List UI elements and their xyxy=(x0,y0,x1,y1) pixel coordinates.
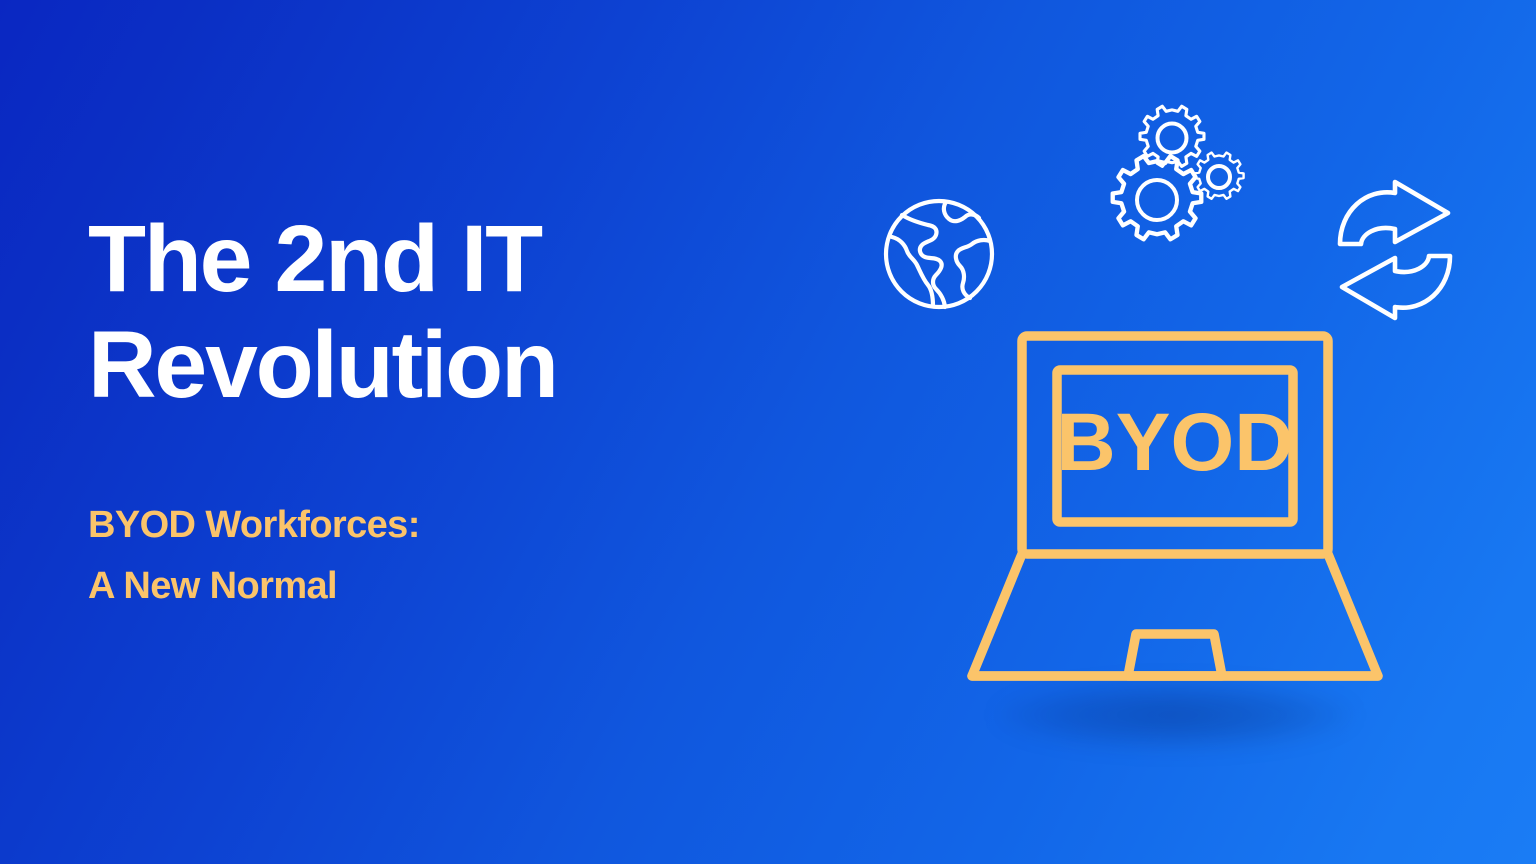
gears-icon xyxy=(1102,100,1252,250)
subhead-line-1: BYOD Workforces: xyxy=(88,495,708,557)
sync-arrows-icon xyxy=(1336,180,1454,320)
page-subtitle: BYOD Workforces: A New Normal xyxy=(88,495,708,618)
headline-line-1: The 2nd IT xyxy=(88,206,708,312)
headline-line-2: Revolution xyxy=(88,312,708,418)
globe-icon xyxy=(880,195,998,313)
byod-banner: The 2nd IT Revolution BYOD Workforces: A… xyxy=(0,0,1536,864)
text-block: The 2nd IT Revolution BYOD Workforces: A… xyxy=(88,206,708,618)
laptop-byod-icon: BYOD xyxy=(960,330,1390,710)
artwork-group: BYOD xyxy=(850,60,1490,760)
page-title: The 2nd IT Revolution xyxy=(88,206,708,419)
subhead-line-2: A New Normal xyxy=(88,556,708,618)
laptop-screen-label: BYOD xyxy=(1057,397,1294,488)
